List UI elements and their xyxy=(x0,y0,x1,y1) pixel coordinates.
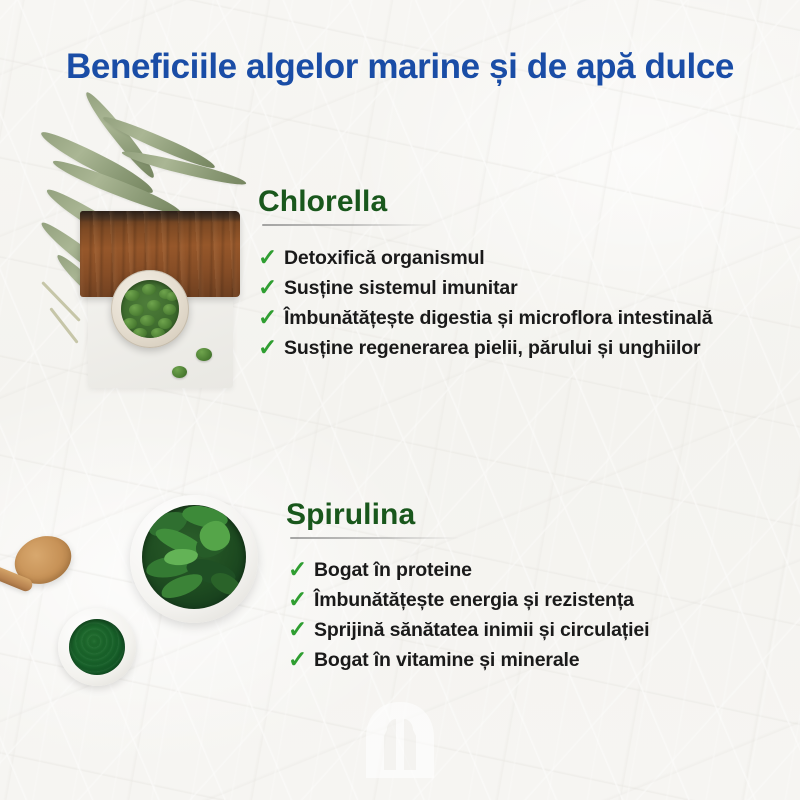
benefits-list-chlorella: ✓ Detoxifică organismul ✓ Susține sistem… xyxy=(258,245,712,365)
check-icon: ✓ xyxy=(258,276,284,299)
list-item-label: Sprijină sănătatea inimii și circulației xyxy=(314,619,649,642)
check-icon: ✓ xyxy=(288,588,314,611)
list-item-label: Îmbunătățește energia și rezistența xyxy=(314,589,634,612)
ceramic-bowl xyxy=(111,270,189,348)
infographic-page: Beneficiile algelor marine și de apă dul… xyxy=(0,0,800,800)
list-item: ✓ Sprijină sănătatea inimii și circulați… xyxy=(288,617,649,647)
section-heading-chlorella: Chlorella xyxy=(258,185,387,219)
board-bark-edge xyxy=(80,211,240,222)
loose-tablet xyxy=(196,348,212,361)
loose-tablet xyxy=(172,366,187,378)
benefits-list-spirulina: ✓ Bogat în proteine ✓ Îmbunătățește ener… xyxy=(288,557,649,677)
seaweed-bowl xyxy=(130,495,258,623)
list-item: ✓ Bogat în proteine xyxy=(288,557,649,587)
check-icon: ✓ xyxy=(288,648,314,671)
spirulina-photo xyxy=(0,495,250,680)
list-item-label: Îmbunătățește digestia și microflora int… xyxy=(284,307,712,330)
list-item-label: Susține sistemul imunitar xyxy=(284,277,518,300)
list-item: ✓ Susține sistemul imunitar xyxy=(258,275,712,305)
bowl-interior xyxy=(121,280,179,338)
check-icon: ✓ xyxy=(288,558,314,581)
list-item: ✓ Bogat în vitamine și minerale xyxy=(288,647,649,677)
check-icon: ✓ xyxy=(258,306,284,329)
chlorella-photo xyxy=(28,118,243,386)
page-title: Beneficiile algelor marine și de apă dul… xyxy=(0,47,800,87)
spirulina-powder xyxy=(69,619,125,675)
list-item: ✓ Îmbunătățește energia și rezistența xyxy=(288,587,649,617)
list-item: ✓ Susține regenerarea pielii, părului și… xyxy=(258,335,712,365)
section-divider-chlorella xyxy=(262,224,434,226)
seaweed-bowl-interior xyxy=(142,505,246,609)
list-item-label: Susține regenerarea pielii, părului și u… xyxy=(284,337,701,360)
list-item: ✓ Îmbunătățește digestia și microflora i… xyxy=(258,305,712,335)
list-item-label: Detoxifică organismul xyxy=(284,247,485,270)
check-icon: ✓ xyxy=(258,336,284,359)
list-item-label: Bogat în proteine xyxy=(314,559,472,582)
stem-shape xyxy=(41,281,81,322)
check-icon: ✓ xyxy=(258,246,284,269)
section-heading-spirulina: Spirulina xyxy=(286,498,415,532)
check-icon: ✓ xyxy=(288,618,314,641)
list-item: ✓ Detoxifică organismul xyxy=(258,245,712,275)
section-divider-spirulina xyxy=(290,537,460,539)
list-item-label: Bogat în vitamine și minerale xyxy=(314,649,579,672)
powder-dish xyxy=(58,608,136,686)
brand-watermark-logo-icon xyxy=(362,700,438,780)
